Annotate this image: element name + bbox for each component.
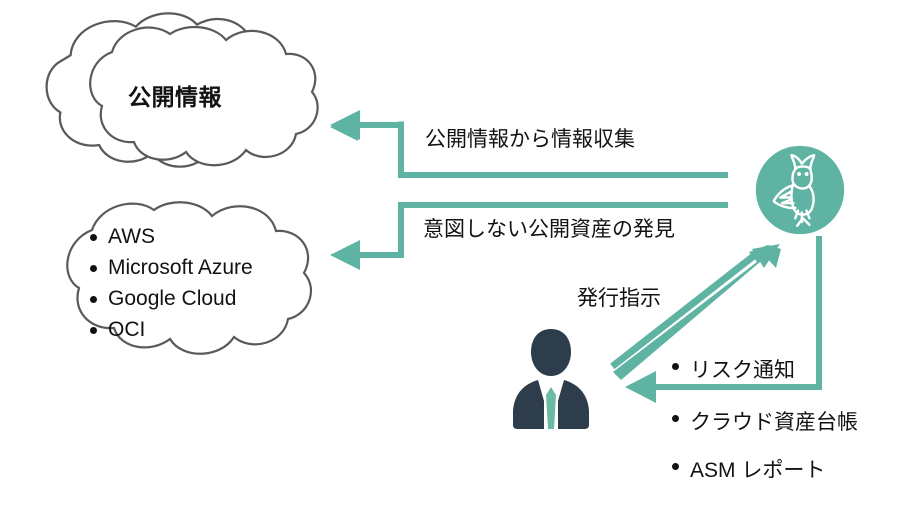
- businessman-icon-jacket-right: [558, 380, 589, 429]
- diagram-canvas: 公開情報 AWS Microsoft Azure Google Cloud OC…: [0, 0, 900, 506]
- businessman-icon-jacket-left: [513, 380, 544, 429]
- businessman-icon: [508, 325, 594, 435]
- discover-arrow-head-stem: [356, 252, 404, 258]
- discover-arrow-vertical: [398, 202, 404, 258]
- list-item: リスク通知: [670, 354, 858, 384]
- outputs-arrow-head: [625, 371, 656, 403]
- collect-arrow-label: 公開情報から情報収集: [425, 129, 635, 150]
- issue-instruction-label: 発行指示: [577, 288, 661, 309]
- discover-arrow-label: 意図しない公開資産の発見: [423, 219, 675, 240]
- discover-arrow-horizontal-top: [398, 202, 728, 208]
- list-item: ASM レポート: [670, 454, 858, 484]
- discover-arrow-head: [330, 240, 360, 270]
- outputs-list: リスク通知 クラウド資産台帳 ASM レポート: [670, 354, 858, 484]
- owl-icon: [753, 143, 847, 237]
- list-item: クラウド資産台帳: [670, 406, 858, 436]
- collect-arrow-head-stem: [356, 122, 404, 128]
- collect-arrow-vertical: [398, 122, 404, 178]
- collect-arrow-head: [330, 110, 360, 140]
- collect-arrow-horizontal: [398, 172, 728, 178]
- businessman-icon-head: [531, 329, 571, 376]
